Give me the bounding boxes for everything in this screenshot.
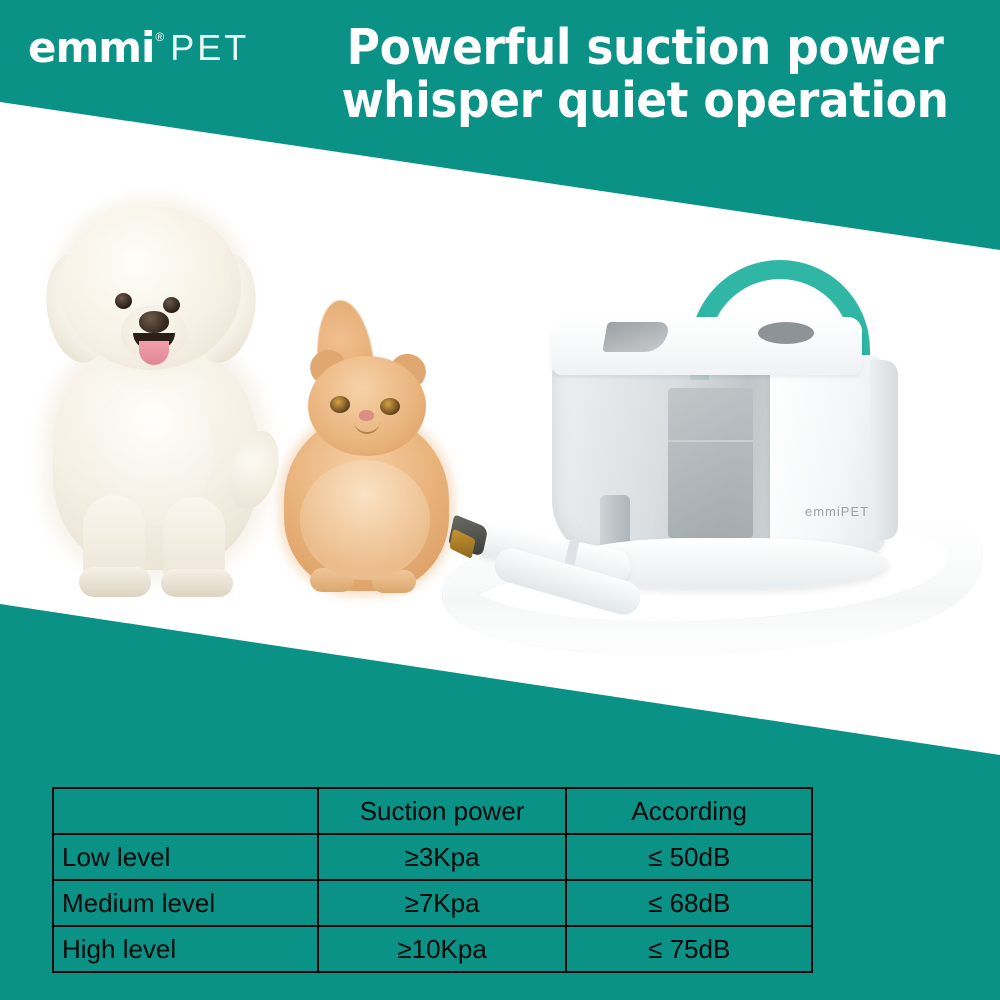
table-row: High level ≥10Kpa ≤ 75dB bbox=[53, 926, 812, 972]
table-row: Medium level ≥7Kpa ≤ 68dB bbox=[53, 880, 812, 926]
cell-noise-low: ≤ 50dB bbox=[566, 834, 812, 880]
headline: Powerful suction power whisper quiet ope… bbox=[324, 22, 966, 128]
device-top-cover bbox=[552, 317, 862, 375]
cell-level-low: Low level bbox=[53, 834, 318, 880]
brand-logo: emmi ® PET bbox=[28, 27, 249, 69]
cell-noise-medium: ≤ 68dB bbox=[566, 880, 812, 926]
cell-suction-medium: ≥7Kpa bbox=[318, 880, 567, 926]
brand-logo-pet: PET bbox=[170, 30, 249, 66]
table-row: Low level ≥3Kpa ≤ 50dB bbox=[53, 834, 812, 880]
header-cell-according: According bbox=[566, 788, 812, 834]
header-cell-blank bbox=[53, 788, 318, 834]
cell-suction-high: ≥10Kpa bbox=[318, 926, 567, 972]
device-brand-logo: emmiPET bbox=[805, 504, 869, 520]
cell-level-high: High level bbox=[53, 926, 318, 972]
brand-logo-emmi: emmi bbox=[28, 27, 154, 69]
table-header-row: Suction power According bbox=[53, 788, 812, 834]
header-cell-suction-power: Suction power bbox=[318, 788, 567, 834]
cell-suction-low: ≥3Kpa bbox=[318, 834, 567, 880]
device-body bbox=[770, 355, 885, 555]
headline-line-1: Powerful suction power bbox=[347, 19, 944, 76]
cell-level-medium: Medium level bbox=[53, 880, 318, 926]
headline-line-2: whisper quiet operation bbox=[324, 75, 966, 128]
device-brand-logo-emmi: emmi bbox=[805, 504, 841, 519]
device-port-hole bbox=[758, 322, 814, 344]
dust-container-filter bbox=[668, 388, 753, 538]
promo-banner: emmi ® PET Powerful suction power whispe… bbox=[0, 0, 1000, 1000]
device-brand-logo-pet: PET bbox=[841, 504, 869, 519]
product-photo: emmiPET bbox=[0, 150, 1000, 670]
cell-noise-high: ≤ 75dB bbox=[566, 926, 812, 972]
registered-trademark-icon: ® bbox=[155, 31, 164, 43]
dog-bichon-frise bbox=[35, 205, 275, 605]
spec-table: Suction power According Low level ≥3Kpa … bbox=[52, 787, 813, 973]
grooming-vacuum-device: emmiPET bbox=[440, 260, 985, 660]
dust-container-line bbox=[668, 440, 753, 442]
device-body-right bbox=[870, 360, 898, 540]
